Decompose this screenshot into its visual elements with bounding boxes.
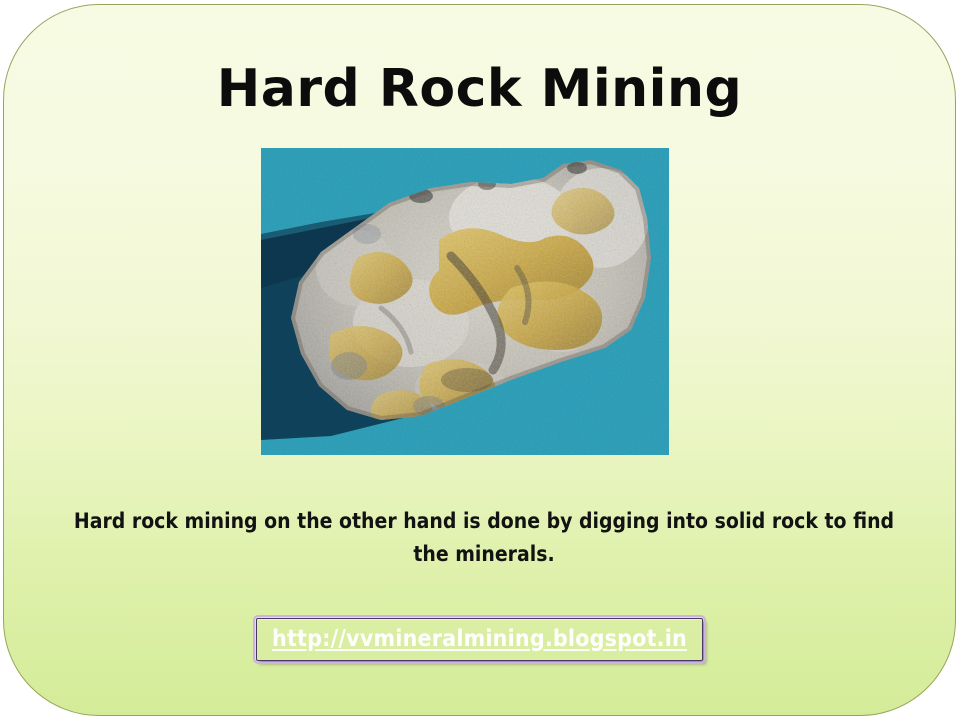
gold-ore-rock-photo [261,148,669,455]
page-title: Hard Rock Mining [4,59,955,119]
rock-photo-graphic [261,148,669,455]
blog-url-label[interactable]: http://vvmineralmining.blogspot.in [272,626,687,652]
url-row: http://vvmineralmining.blogspot.in [4,618,955,661]
blog-url-button[interactable]: http://vvmineralmining.blogspot.in [256,618,703,661]
slide-canvas: Hard Rock Mining [3,4,956,716]
caption-text: Hard rock mining on the other hand is do… [54,505,914,571]
